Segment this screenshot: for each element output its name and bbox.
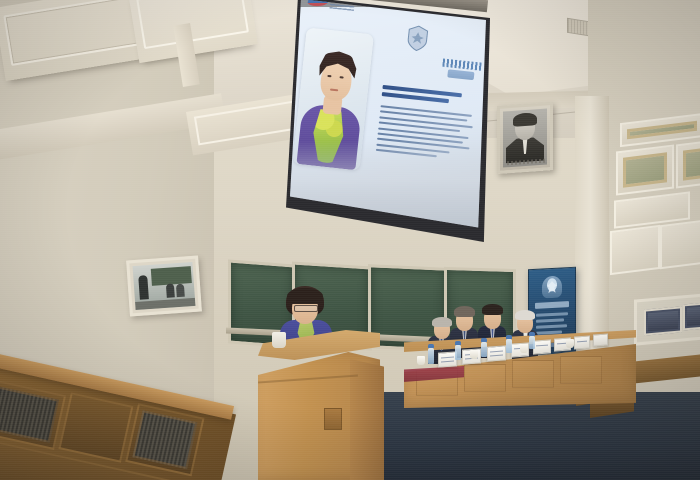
water-bottle bbox=[481, 342, 487, 357]
photo-desk bbox=[135, 298, 195, 310]
slide-portrait-photo bbox=[292, 28, 373, 171]
wainscot-panel bbox=[58, 392, 133, 462]
photo-person bbox=[138, 275, 149, 300]
portrait-eye bbox=[327, 75, 331, 77]
table-panel bbox=[560, 356, 602, 384]
presenter-cup bbox=[272, 332, 286, 348]
water-bottle bbox=[529, 336, 535, 349]
bottle-cap bbox=[506, 335, 512, 339]
framed-group-photo bbox=[644, 306, 682, 335]
placard-text-line bbox=[441, 361, 454, 363]
name-placard bbox=[487, 345, 506, 361]
podium-icon bbox=[258, 330, 380, 480]
presenter-fringe bbox=[287, 288, 323, 304]
drinking-cup bbox=[417, 356, 425, 365]
event-wordmark-logo-icon bbox=[441, 58, 482, 82]
name-placard bbox=[593, 333, 608, 346]
name-placard bbox=[533, 339, 551, 354]
name-placard bbox=[574, 335, 590, 349]
portrait-eye bbox=[339, 76, 343, 78]
water-bottle bbox=[428, 348, 434, 364]
university-crest-emblem-icon bbox=[405, 24, 430, 53]
banner-text-line bbox=[536, 318, 564, 322]
photo-image bbox=[648, 311, 678, 332]
right-wall-panel-1 bbox=[616, 144, 674, 195]
panelist-hair bbox=[515, 310, 535, 320]
placard-text-line bbox=[536, 345, 548, 347]
right-wall-panel-5 bbox=[660, 219, 700, 269]
wordmark-block bbox=[447, 69, 474, 80]
drinking-cup bbox=[566, 339, 574, 348]
banner-text-line bbox=[536, 324, 567, 328]
photo-person bbox=[166, 283, 175, 298]
panelist-hair bbox=[482, 304, 503, 315]
bottle-cap bbox=[481, 338, 487, 342]
panel-inset bbox=[683, 147, 700, 180]
drinking-cup bbox=[470, 350, 478, 359]
panel-inset bbox=[627, 121, 697, 140]
projection-screen-icon bbox=[286, 0, 490, 242]
drinking-cup bbox=[520, 344, 528, 353]
placard-text-line bbox=[577, 341, 587, 343]
table-panel bbox=[464, 364, 506, 392]
placard-text-line bbox=[490, 355, 503, 357]
slide-body-text bbox=[375, 105, 474, 164]
conference-hall-photo bbox=[0, 0, 700, 480]
framed-photo-classroom bbox=[126, 256, 202, 317]
water-bottle bbox=[455, 345, 461, 360]
right-wall-panel-4 bbox=[610, 225, 660, 275]
bottle-cap bbox=[428, 344, 434, 348]
portrait-image bbox=[503, 108, 547, 167]
panel-inset bbox=[623, 152, 667, 187]
banner-text-line bbox=[536, 312, 568, 316]
slide-title-block bbox=[381, 85, 468, 108]
photo-person bbox=[176, 284, 185, 298]
table-panel bbox=[512, 360, 554, 388]
bottle-cap bbox=[529, 332, 535, 336]
portrait-hair bbox=[513, 112, 537, 127]
molding-frame bbox=[194, 100, 299, 145]
right-wall-panel-2 bbox=[676, 140, 700, 189]
placard-text-line bbox=[441, 357, 454, 359]
podium-plaque bbox=[324, 408, 342, 430]
bottle-cap bbox=[455, 341, 461, 345]
photo-image bbox=[133, 262, 196, 310]
panelist-hair bbox=[454, 306, 475, 317]
photo-image bbox=[687, 306, 700, 326]
banner-title-line bbox=[535, 301, 569, 309]
framed-group-photo bbox=[683, 302, 700, 331]
water-bottle bbox=[506, 339, 512, 353]
presenter-glasses bbox=[294, 305, 318, 312]
framed-portrait-icon bbox=[497, 102, 553, 174]
placard-text-line bbox=[490, 351, 503, 353]
podium-side-panel bbox=[350, 354, 384, 480]
panelist-hair bbox=[432, 317, 452, 327]
